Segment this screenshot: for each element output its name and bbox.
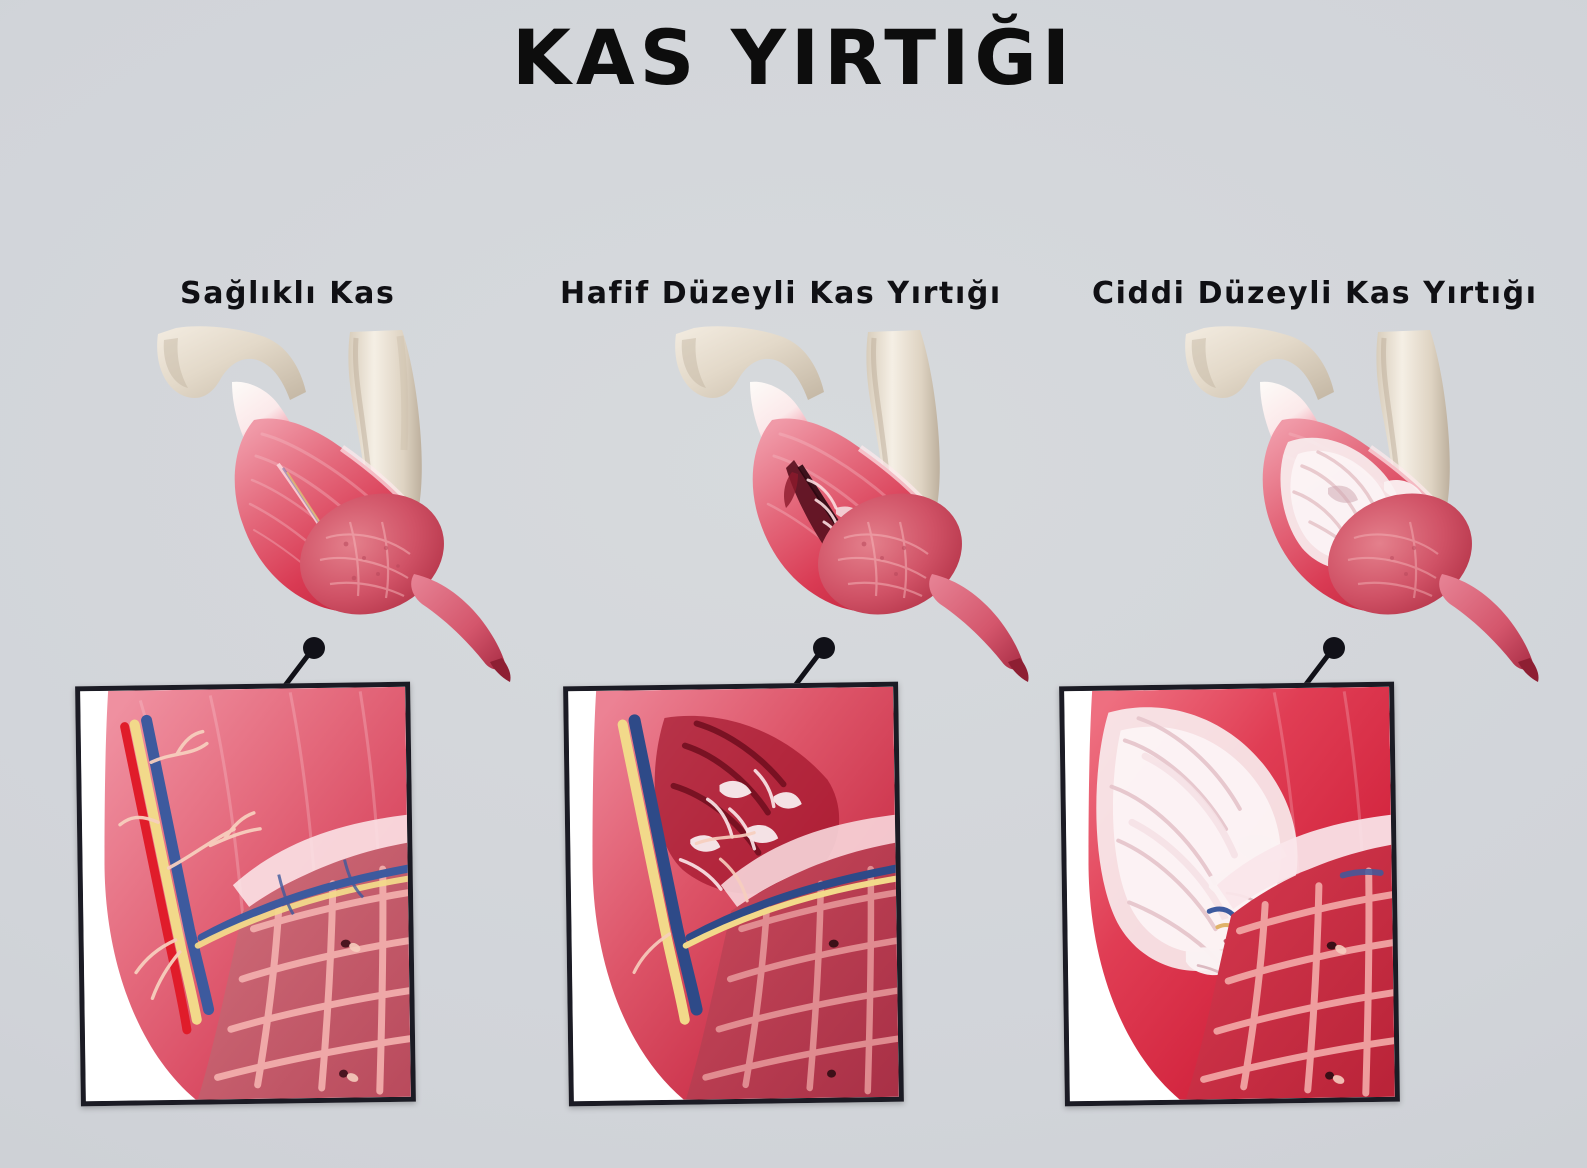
healthy-muscle-closeup — [75, 682, 416, 1107]
mild-tear-closeup — [563, 682, 904, 1107]
severe-tear-closeup — [1059, 682, 1400, 1107]
pelvis-ischium-bone — [675, 326, 824, 400]
pelvis-ischium-bone — [157, 326, 306, 400]
panel-caption-mild: Hafif Düzeyli Kas Yırtığı — [560, 276, 1002, 311]
panel-caption-healthy: Sağlıklı Kas — [180, 276, 395, 311]
distal-tendon — [929, 574, 1028, 682]
poster-canvas: KAS YIRTIĞI Sağlıklı Kas Hafif Düzeyli K… — [0, 0, 1587, 1168]
page-title: KAS YIRTIĞI — [0, 18, 1587, 98]
pelvis-ischium-bone — [1185, 326, 1334, 400]
distal-tendon — [1439, 574, 1538, 682]
panel-caption-severe: Ciddi Düzeyli Kas Yırtığı — [1092, 276, 1538, 311]
distal-tendon — [411, 574, 510, 682]
